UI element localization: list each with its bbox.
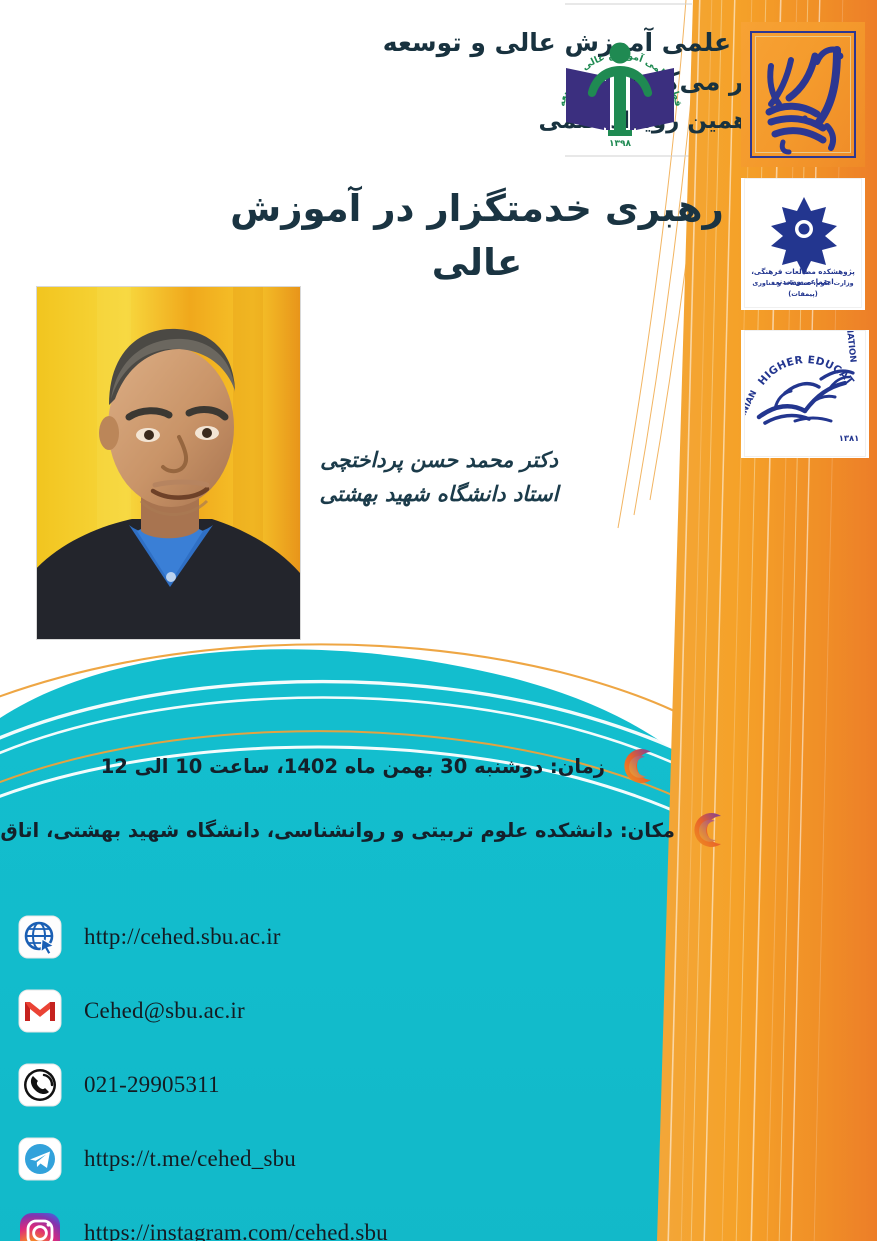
website-icon: [18, 915, 62, 959]
contact-phone[interactable]: 021-29905311: [12, 1048, 612, 1122]
telegram-url: https://t.me/cehed_sbu: [84, 1146, 296, 1172]
contact-telegram[interactable]: https://t.me/cehed_sbu: [12, 1122, 612, 1196]
contact-website[interactable]: http://cehed.sbu.ac.ir: [12, 900, 612, 974]
shahid-beheshti-university-logo: [741, 22, 865, 167]
event-place-text: مکان: دانشکده علوم تربیتی و روانشناسی، د…: [0, 819, 675, 842]
telegram-icon: [18, 1137, 62, 1181]
website-url: http://cehed.sbu.ac.ir: [84, 924, 281, 950]
iranian-higher-education-association-logo: HIGHER EDUCAT IRANIAN ION ASSOCIATION ۱۳…: [744, 330, 866, 457]
gmail-icon: [18, 989, 62, 1033]
event-time-text: زمان: دوشنبه 30 بهمن ماه 1402، ساعت 10 ا…: [101, 755, 605, 778]
ihea-en-right: ION ASSOCIATION: [839, 331, 858, 363]
cehed-logo: قطب علمی آموزش عالی و توسعه ۱۳۹۸: [548, 18, 693, 158]
ricac-caption-line-3: (پیمفات): [749, 290, 857, 299]
event-poster: قطب علمی آموزش عالی و توسعه برگزار می‌کن…: [0, 0, 877, 1241]
ricac-caption-line-2: وزارت علوم، تحقیقات و فناوری: [749, 279, 857, 288]
speaker-name: دکتر محمد حسن پرداختچی: [229, 444, 649, 478]
event-time-row: زمان: دوشنبه 30 بهمن ماه 1402، ساعت 10 ا…: [101, 744, 659, 788]
ricac-logo: پژوهشکده مطالعات فرهنگی، اجتماعی و تمدنی…: [744, 178, 862, 308]
email-address: Cehed@sbu.ac.ir: [84, 998, 245, 1024]
contact-email[interactable]: Cehed@sbu.ac.ir: [12, 974, 612, 1048]
speaker-block: دکتر محمد حسن پرداختچی استاد دانشگاه شهی…: [229, 444, 649, 511]
crescent-bullet-icon: [685, 808, 729, 852]
phone-icon: [18, 1063, 62, 1107]
contact-instagram[interactable]: https://instagram.com/cehed.sbu: [12, 1196, 612, 1241]
ihea-year: ۱۳۸۱: [839, 433, 859, 443]
contact-list: http://cehed.sbu.ac.ir Cehed@sbu.ac.ir: [12, 900, 612, 1241]
ihea-en-left: IRANIAN: [745, 389, 759, 430]
instagram-url: https://instagram.com/cehed.sbu: [84, 1220, 388, 1241]
phone-number: 021-29905311: [84, 1072, 220, 1098]
page-title: رهبری خدمتگزار در آموزش عالی: [197, 182, 757, 289]
instagram-icon: [18, 1211, 62, 1241]
speaker-affiliation: استاد دانشگاه شهید بهشتی: [229, 478, 649, 512]
event-place-row: مکان: دانشکده علوم تربیتی و روانشناسی، د…: [0, 808, 729, 852]
crescent-bullet-icon: [615, 744, 659, 788]
cehed-year: ۱۳۹۸: [609, 139, 631, 149]
